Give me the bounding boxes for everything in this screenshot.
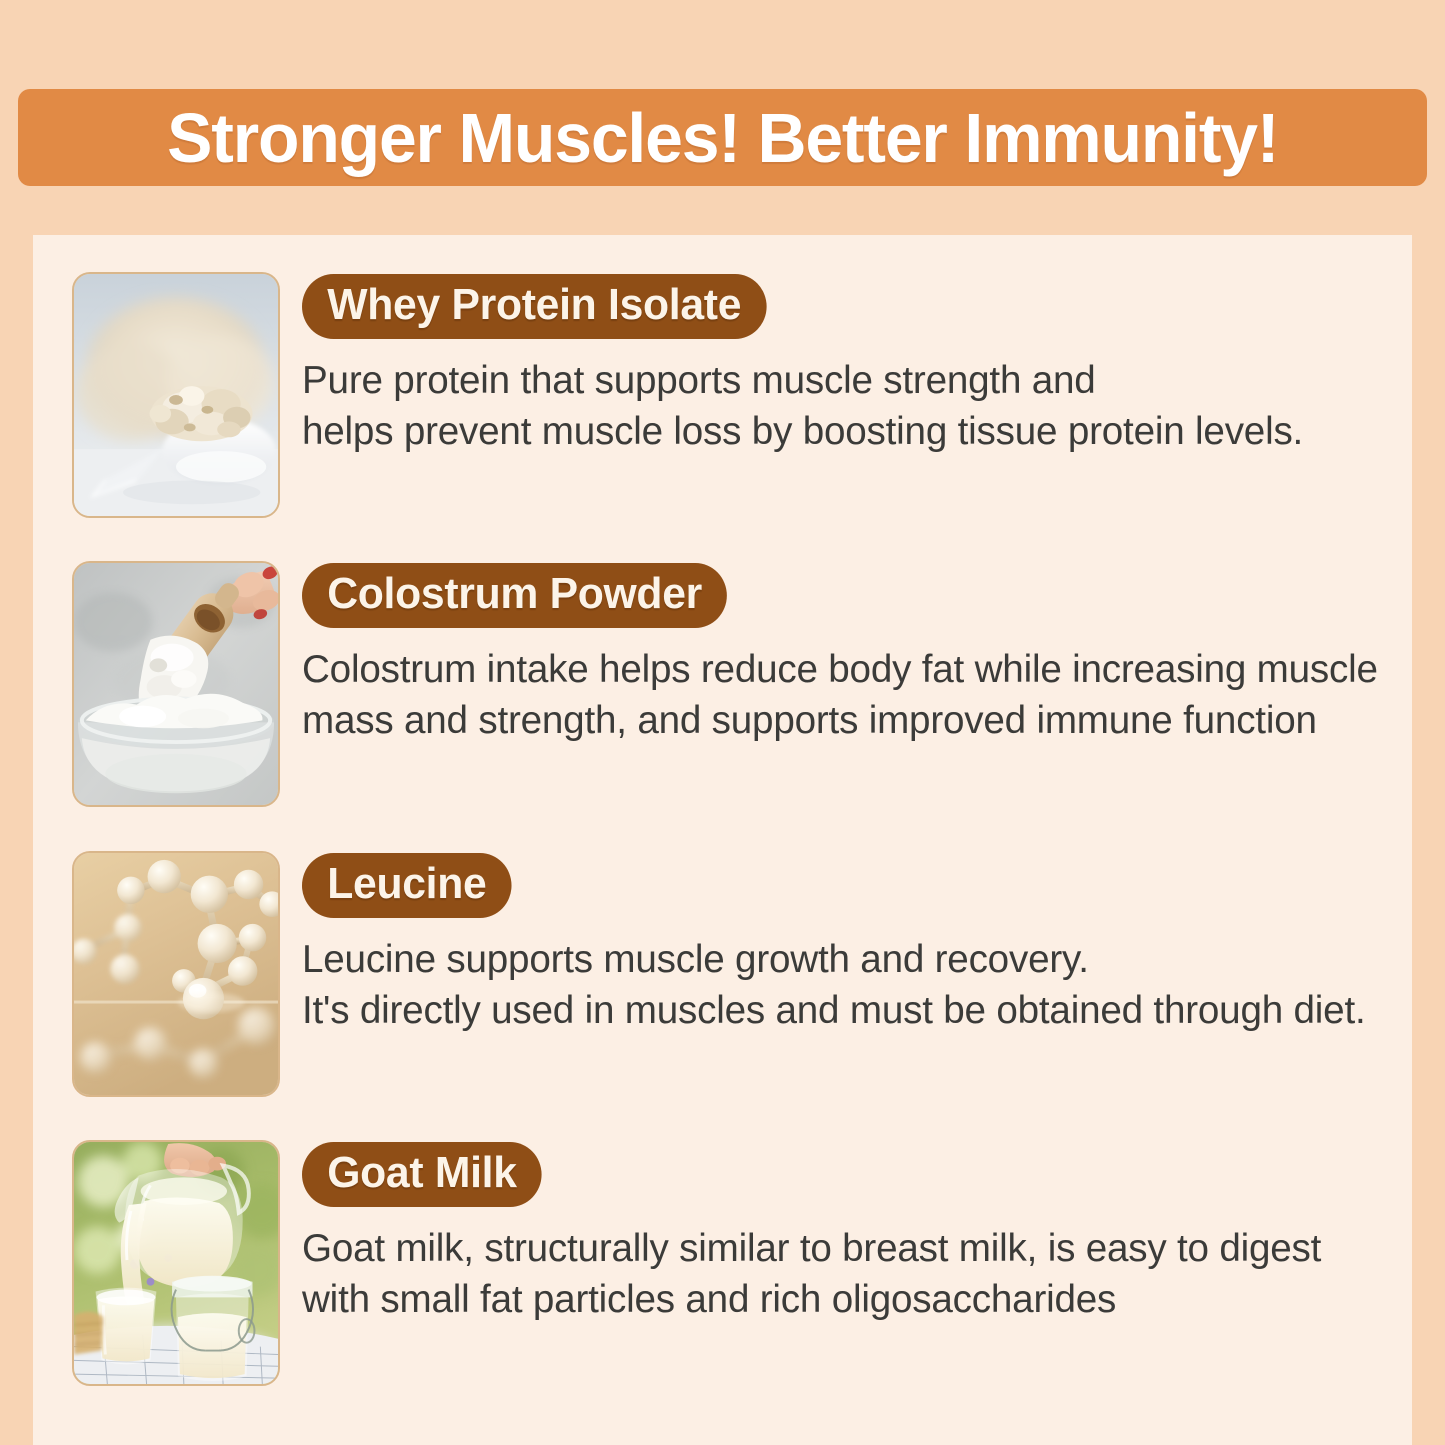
ingredient-description: Leucine supports muscle growth and recov… <box>302 934 1366 1036</box>
description-line: helps prevent muscle loss by boosting ti… <box>302 406 1303 457</box>
description-line: Pure protein that supports muscle streng… <box>302 355 1303 406</box>
ingredient-description: Goat milk, structurally similar to breas… <box>302 1223 1321 1325</box>
ingredient-description: Pure protein that supports muscle streng… <box>302 355 1303 457</box>
ingredient-row-leucine: Leucine Leucine supports muscle growth a… <box>72 851 1376 1097</box>
ingredient-content: Colostrum Powder Colostrum intake helps … <box>302 561 1389 746</box>
ingredient-name-badge: Leucine <box>302 853 512 918</box>
ingredient-content: Goat Milk Goat milk, structurally simila… <box>302 1140 1331 1325</box>
ingredient-row-whey-protein-isolate: Whey Protein Isolate Pure protein that s… <box>72 272 1313 518</box>
description-line: mass and strength, and supports improved… <box>302 695 1378 746</box>
description-line: Leucine supports muscle growth and recov… <box>302 934 1366 985</box>
banner-title: Stronger Muscles! Better Immunity! <box>167 103 1278 173</box>
goat-milk-pitcher-pouring-photo <box>72 1140 280 1386</box>
ingredient-content: Whey Protein Isolate Pure protein that s… <box>302 272 1313 457</box>
leucine-molecule-structure-photo <box>72 851 280 1097</box>
ingredient-row-colostrum-powder: Colostrum Powder Colostrum intake helps … <box>72 561 1389 807</box>
ingredient-content: Leucine Leucine supports muscle growth a… <box>302 851 1376 1036</box>
description-line: Colostrum intake helps reduce body fat w… <box>302 644 1378 695</box>
ingredient-name-badge: Goat Milk <box>302 1142 542 1207</box>
header-banner: Stronger Muscles! Better Immunity! <box>18 89 1427 186</box>
ingredient-description: Colostrum intake helps reduce body fat w… <box>302 644 1378 746</box>
description-line: It's directly used in muscles and must b… <box>302 985 1366 1036</box>
colostrum-powder-wooden-scoop-photo <box>72 561 280 807</box>
ingredient-name-badge: Whey Protein Isolate <box>302 274 766 339</box>
ingredient-row-goat-milk: Goat Milk Goat milk, structurally simila… <box>72 1140 1331 1386</box>
description-line: with small fat particles and rich oligos… <box>302 1274 1321 1325</box>
description-line: Goat milk, structurally similar to breas… <box>302 1223 1321 1274</box>
whey-protein-powder-scoop-photo <box>72 272 280 518</box>
ingredient-name-badge: Colostrum Powder <box>302 563 727 628</box>
